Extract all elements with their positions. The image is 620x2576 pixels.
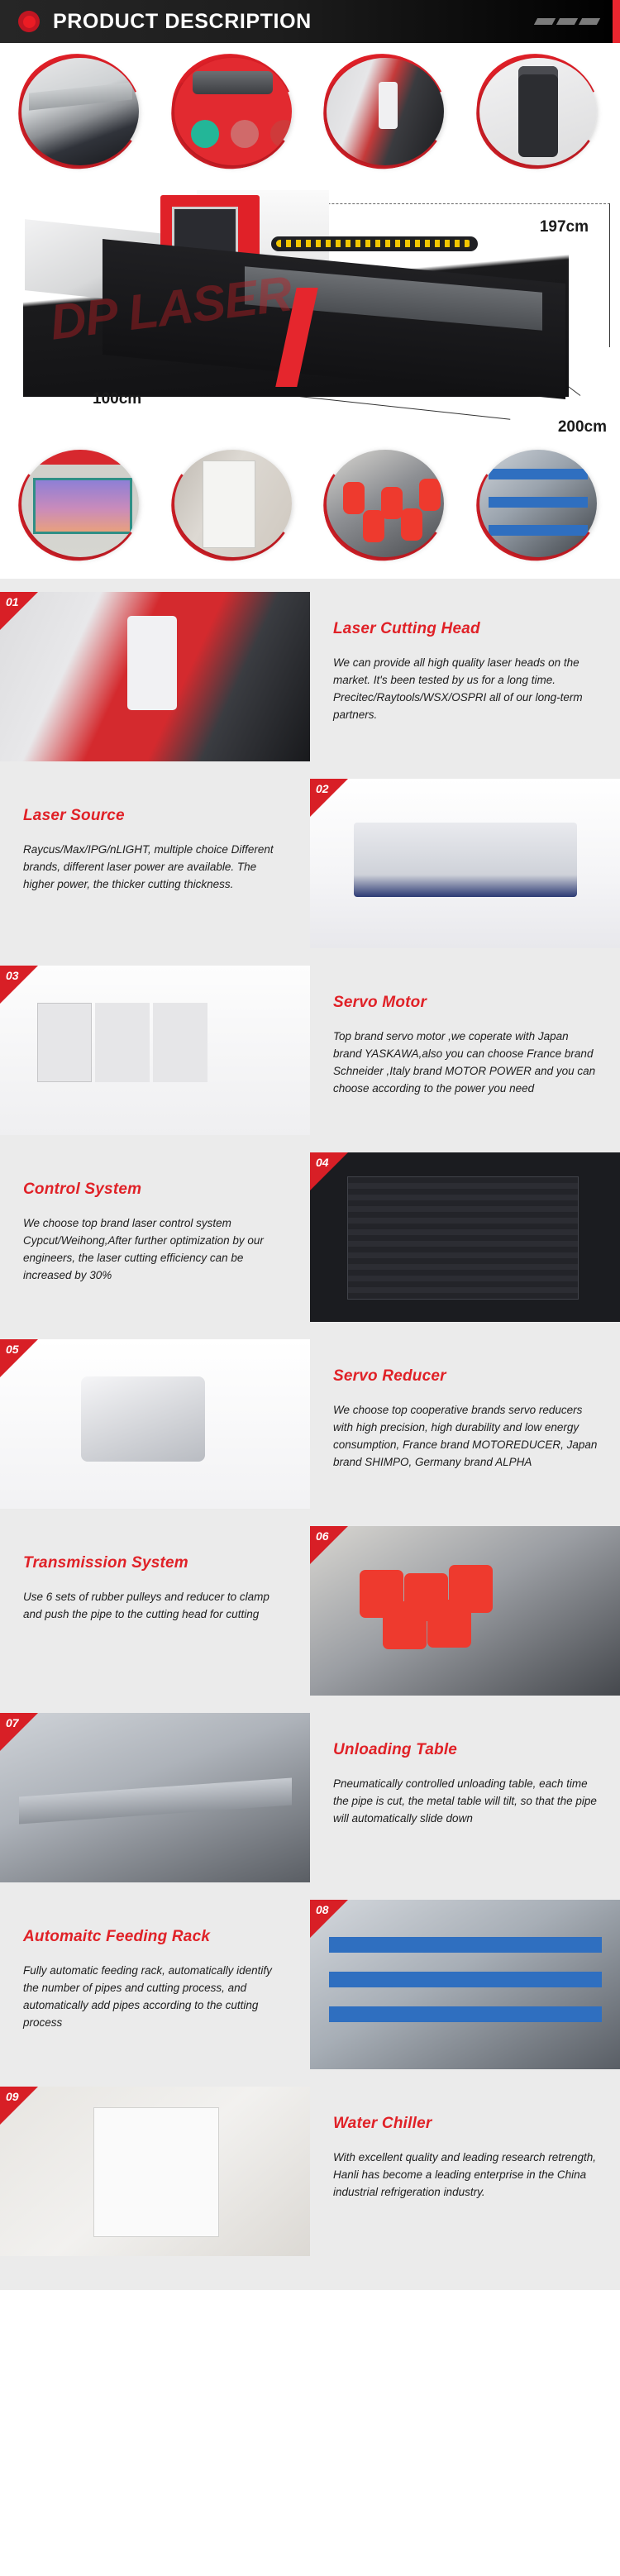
machine-dimension-diagram: DP LASER 197cm 100cm 200cm (0, 174, 620, 446)
dimension-label-depth: 100cm (93, 390, 141, 408)
feature-item: 04 Control System We choose top brand la… (0, 1152, 620, 1328)
feature-item: 03 Servo Motor Top brand servo motor ,we… (0, 966, 620, 1141)
bottom-photo-gallery (0, 446, 620, 579)
product-description-page: PRODUCT DESCRIPTION (0, 0, 620, 2290)
feature-description: Use 6 sets of rubber pulleys and reducer… (23, 1589, 289, 1624)
gallery-item (12, 55, 150, 169)
feature-list: 01 Laser Cutting Head We can provide all… (0, 579, 620, 2290)
factory-line-photo (479, 450, 597, 557)
feature-number: 02 (316, 782, 329, 795)
feature-image: 09 (0, 2087, 310, 2256)
rubber-rollers-photo (327, 450, 444, 557)
feature-item: 01 Laser Cutting Head We can provide all… (0, 592, 620, 767)
feature-title: Laser Cutting Head (333, 620, 599, 638)
servo-motor-photo (0, 966, 310, 1135)
water-chiller-photo (0, 2087, 310, 2256)
feature-image: 08 (310, 1900, 620, 2069)
handheld-pendant-photo (479, 58, 597, 165)
feature-text: Unloading Table Pneumatically controlled… (310, 1713, 620, 1888)
dimension-label-height: 197cm (540, 218, 589, 236)
feature-item: 09 Water Chiller With excellent quality … (0, 2087, 620, 2262)
gallery-item (470, 446, 608, 561)
gallery-item (317, 55, 455, 169)
unloading-table-photo (0, 1713, 310, 1882)
feature-description: We choose top cooperative brands servo r… (333, 1402, 599, 1472)
feature-text: Servo Reducer We choose top cooperative … (310, 1339, 620, 1515)
machine-illustration (23, 190, 569, 397)
feature-title: Control System (23, 1181, 289, 1199)
feature-text: Laser Source Raycus/Max/IPG/nLIGHT, mult… (0, 779, 310, 954)
hmi-touchscreen-photo (21, 450, 139, 557)
feature-image: 05 (0, 1339, 310, 1509)
feature-image: 07 (0, 1713, 310, 1882)
feature-item: 02 Laser Source Raycus/Max/IPG/nLIGHT, m… (0, 779, 620, 954)
gallery-item (165, 55, 303, 169)
page-title: PRODUCT DESCRIPTION (53, 10, 312, 34)
feature-image: 04 (310, 1152, 620, 1322)
feature-number: 07 (6, 1716, 19, 1729)
laser-source-photo (310, 779, 620, 948)
feature-number: 04 (316, 1156, 329, 1169)
feature-description: With excellent quality and leading resea… (333, 2149, 599, 2202)
feature-text: Laser Cutting Head We can provide all hi… (310, 592, 620, 767)
cutting-head-photo (327, 58, 444, 165)
feature-item: 05 Servo Reducer We choose top cooperati… (0, 1339, 620, 1515)
feature-description: Pneumatically controlled unloading table… (333, 1776, 599, 1828)
dimension-height-line (609, 203, 610, 347)
feature-text: Automaitc Feeding Rack Fully automatic f… (0, 1900, 310, 2075)
feature-image: 03 (0, 966, 310, 1135)
feature-text: Control System We choose top brand laser… (0, 1152, 310, 1328)
feature-title: Water Chiller (333, 2115, 599, 2133)
feature-item: 08 Automaitc Feeding Rack Fully automati… (0, 1900, 620, 2075)
feature-title: Automaitc Feeding Rack (23, 1928, 289, 1946)
servo-reducer-photo (0, 1339, 310, 1509)
feature-text: Servo Motor Top brand servo motor ,we co… (310, 966, 620, 1141)
section-header: PRODUCT DESCRIPTION (0, 0, 620, 43)
feeding-rack-photo (310, 1900, 620, 2069)
feature-description: Raycus/Max/IPG/nLIGHT, multiple choice D… (23, 842, 289, 894)
feature-image: 01 (0, 592, 310, 761)
feature-title: Transmission System (23, 1554, 289, 1572)
feature-item: 07 Unloading Table Pneumatically control… (0, 1713, 620, 1888)
water-chiller-photo (174, 450, 292, 557)
feature-title: Laser Source (23, 807, 289, 825)
gallery-item (317, 446, 455, 561)
red-circle-icon (18, 11, 40, 32)
feature-description: Fully automatic feeding rack, automatica… (23, 1963, 289, 2032)
transmission-system-photo (310, 1526, 620, 1696)
feature-title: Servo Motor (333, 994, 599, 1012)
feature-description: We can provide all high quality laser he… (333, 655, 599, 724)
gallery-item (12, 446, 150, 561)
feature-image: 02 (310, 779, 620, 948)
machine-bed-photo (21, 58, 139, 165)
gallery-item (165, 446, 303, 561)
feature-text: Water Chiller With excellent quality and… (310, 2087, 620, 2262)
feature-number: 03 (6, 969, 19, 982)
top-photo-gallery (0, 55, 620, 169)
feature-number: 06 (316, 1529, 329, 1543)
overview-block: DP LASER 197cm 100cm 200cm (0, 43, 620, 579)
feature-description: Top brand servo motor ,we coperate with … (333, 1028, 599, 1098)
laser-cutting-head-photo (0, 592, 310, 761)
feature-title: Servo Reducer (333, 1367, 599, 1386)
feature-item: 06 Transmission System Use 6 sets of rub… (0, 1526, 620, 1701)
feature-number: 09 (6, 2090, 19, 2103)
control-system-photo (310, 1152, 620, 1322)
feature-description: We choose top brand laser control system… (23, 1215, 289, 1285)
feature-text: Transmission System Use 6 sets of rubber… (0, 1526, 310, 1701)
dimension-label-width: 200cm (558, 418, 607, 436)
header-accent-bar (613, 0, 620, 43)
feature-number: 05 (6, 1343, 19, 1356)
feature-number: 01 (6, 595, 19, 608)
feature-number: 08 (316, 1903, 329, 1916)
feature-title: Unloading Table (333, 1741, 599, 1759)
feature-image: 06 (310, 1526, 620, 1696)
gallery-item (470, 55, 608, 169)
control-panel-photo (174, 58, 292, 165)
slash-decoration-icon (536, 18, 599, 25)
